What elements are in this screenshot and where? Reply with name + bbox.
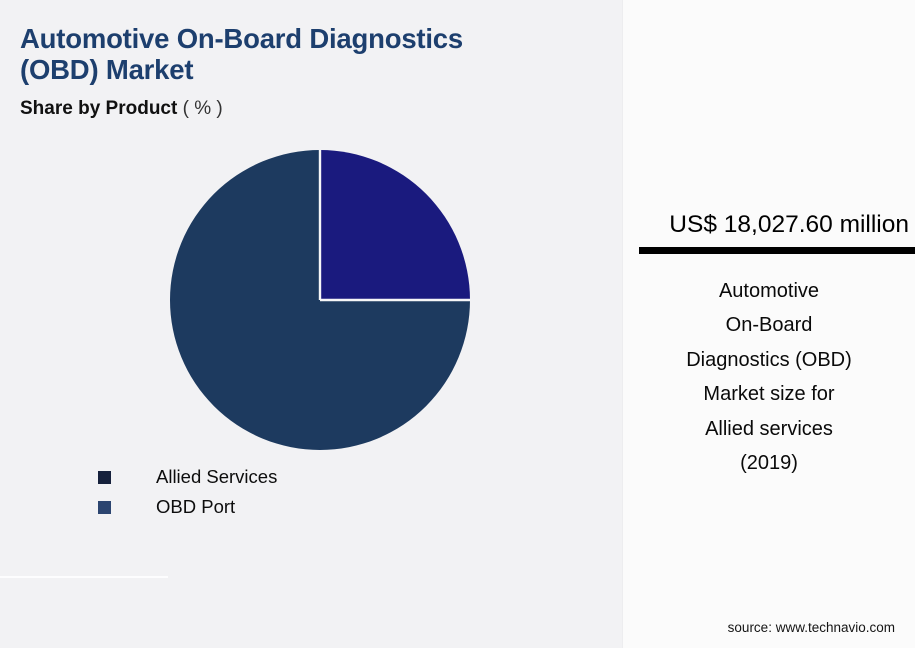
callout-description-line: Market size for <box>631 377 907 411</box>
callout-description-line: Allied services <box>631 412 907 446</box>
legend-item-label: OBD Port <box>156 498 235 517</box>
callout-description-line: On-Board <box>631 308 907 342</box>
pie-chart-svg <box>168 148 472 452</box>
callout-value: US$ 18,027.60 million <box>623 212 909 239</box>
divider-rule <box>0 576 168 578</box>
legend-swatch-icon <box>98 501 111 514</box>
legend-item-label: Allied Services <box>156 468 277 487</box>
callout-underline-bar <box>639 247 915 254</box>
callout-panel: US$ 18,027.60 million Automotive On-Boar… <box>622 0 915 648</box>
callout-description-line: Automotive <box>631 274 907 308</box>
pie-chart <box>168 148 472 452</box>
callout-description: Automotive On-Board Diagnostics (OBD) Ma… <box>631 274 907 480</box>
legend-item-allied-services[interactable]: Allied Services <box>98 462 518 492</box>
chart-subtitle: Share by Product ( % ) <box>20 99 223 118</box>
chart-subtitle-main: Share by Product <box>20 98 177 119</box>
legend-item-obd-port[interactable]: OBD Port <box>98 492 518 522</box>
page-title-line-1: Automotive On-Board Diagnostics <box>20 24 595 55</box>
chart-legend: Allied Services OBD Port <box>98 462 518 522</box>
source-attribution: source: www.technavio.com <box>623 620 895 635</box>
chart-panel: Automotive On-Board Diagnostics (OBD) Ma… <box>0 0 621 648</box>
legend-swatch-icon <box>98 471 111 484</box>
page-title: Automotive On-Board Diagnostics (OBD) Ma… <box>20 24 595 86</box>
infographic-root: Automotive On-Board Diagnostics (OBD) Ma… <box>0 0 915 648</box>
pie-slice-obd-port[interactable] <box>320 150 470 300</box>
chart-subtitle-unit: ( % ) <box>183 98 223 119</box>
callout-description-line: (2019) <box>631 446 907 480</box>
callout-description-line: Diagnostics (OBD) <box>631 343 907 377</box>
page-title-line-2: (OBD) Market <box>20 55 595 86</box>
